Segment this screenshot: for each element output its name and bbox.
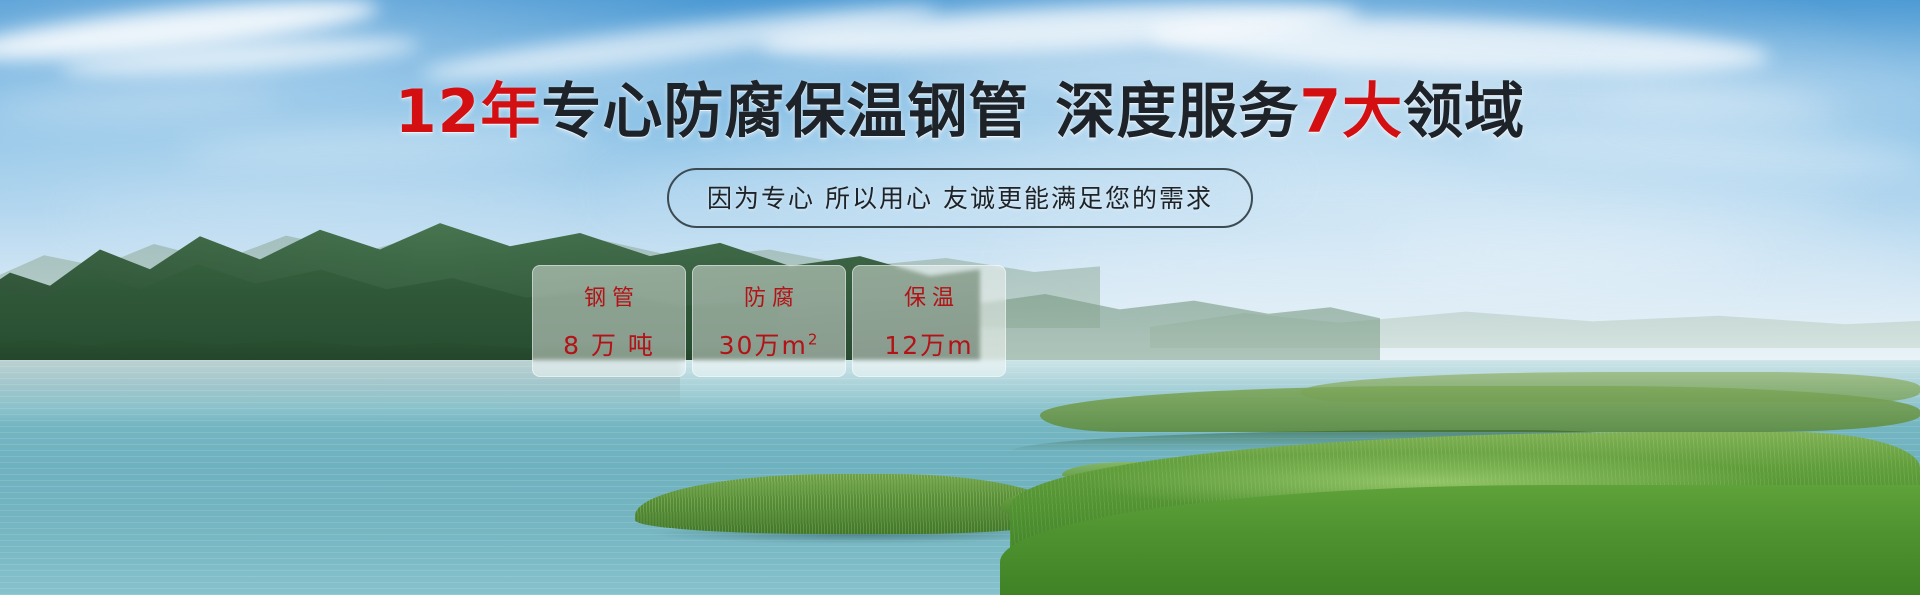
headline-service-text: 深度服务 [1055, 77, 1299, 147]
headline-main-text: 专心防腐保温钢管 [541, 77, 1029, 147]
stat-label: 保温 [898, 280, 960, 312]
hero-banner: 12年专心防腐保温钢管深度服务7大领域 因为专心 所以用心 友诚更能满足您的需求… [0, 0, 1920, 595]
headline-fields-number: 7 [1299, 77, 1342, 147]
headline-years-number: 12 [395, 77, 481, 147]
headline: 12年专心防腐保温钢管深度服务7大领域 [0, 82, 1920, 142]
banner-content: 12年专心防腐保温钢管深度服务7大领域 因为专心 所以用心 友诚更能满足您的需求… [0, 0, 1920, 595]
stat-value-main: 8 万 吨 [563, 331, 655, 360]
subtitle-pill: 因为专心 所以用心 友诚更能满足您的需求 [667, 168, 1253, 228]
headline-years-unit: 年 [480, 77, 541, 147]
stat-label: 防腐 [738, 280, 800, 312]
stat-value: 8 万 吨 [563, 326, 655, 362]
stat-value: 12万m [884, 326, 973, 362]
stat-value-main: 30万m [719, 331, 808, 360]
stat-value-superscript: 2 [808, 331, 820, 349]
stat-card-anticorrosion: 防腐 30万m2 [692, 265, 846, 377]
subtitle-container: 因为专心 所以用心 友诚更能满足您的需求 [0, 168, 1920, 228]
headline-fields-unit: 大 [1342, 77, 1403, 147]
stat-card-steel-pipe: 钢管 8 万 吨 [532, 265, 686, 377]
stat-card-insulation: 保温 12万m [852, 265, 1006, 377]
headline-fields-text: 领域 [1403, 77, 1525, 147]
stat-value-main: 12万m [884, 331, 973, 360]
stat-label: 钢管 [578, 280, 640, 312]
stat-value: 30万m2 [719, 326, 820, 362]
stat-cards: 钢管 8 万 吨 防腐 30万m2 保温 12万m [532, 265, 1006, 377]
